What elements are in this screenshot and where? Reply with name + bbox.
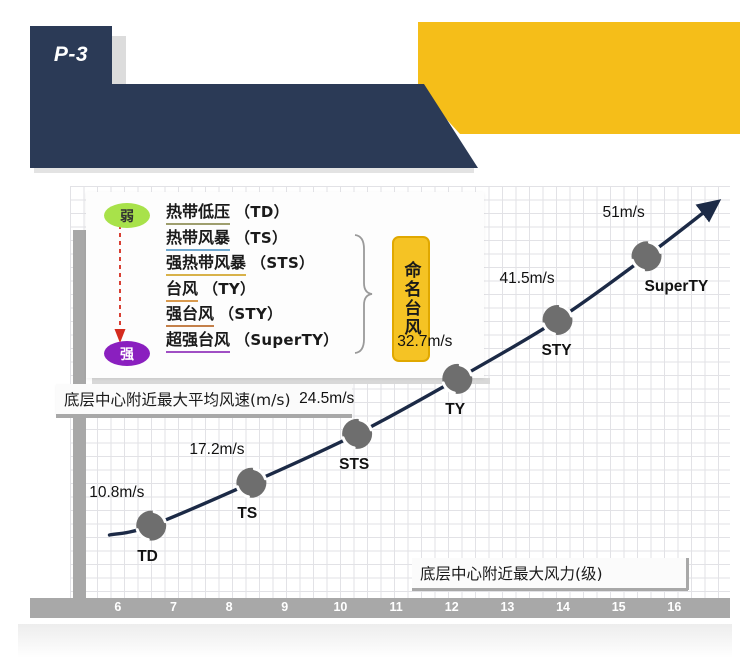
cyclone-marker-icon (136, 511, 166, 541)
chart-point-category-label: SuperTY (645, 278, 709, 296)
category-list: 热带低压（TD）热带风暴（TS）强热带风暴（STS）台风（TY）强台风（STY）… (166, 199, 339, 352)
chart-point-category-label: STS (339, 456, 369, 474)
chart-point-value-label: 41.5m/s (499, 270, 554, 288)
legend-item-label-cn: 台风 (166, 275, 198, 302)
legend-item-label-cn: 热带低压 (166, 198, 230, 225)
legend-item: 强热带风暴（STS） (166, 250, 339, 276)
infographic-root: 热带气旋 tropical cyclone P-3 根据《热带气旋等级》国家标准… (0, 0, 750, 660)
chart-point-value-label: 24.5m/s (299, 390, 354, 408)
legend-item-label-cn: 强台风 (166, 300, 214, 327)
chart-point-category-label: STY (541, 342, 571, 360)
legend-item-label-cn: 强热带风暴 (166, 249, 246, 276)
x-axis-label-tick (686, 558, 689, 590)
chart-point-value-label: 10.8m/s (89, 484, 144, 502)
chart-point-category-label: TD (137, 548, 158, 566)
legend-item-label-en: （TS） (235, 227, 287, 248)
cyclone-marker-icon (442, 364, 472, 394)
chart-point-value-label: 17.2m/s (189, 441, 244, 459)
x-axis-label-underline (412, 588, 688, 591)
weak-badge: 弱 (104, 203, 150, 228)
chart-point-category-label: TY (445, 401, 465, 419)
legend-item: 超强台风（SuperTY） (166, 327, 339, 353)
cyclone-marker-icon (632, 241, 662, 271)
legend-item-label-en: （TD） (235, 201, 289, 222)
cyclone-marker-icon (542, 305, 572, 335)
intensity-arrow-icon (112, 225, 128, 347)
legend-item-label-cn: 热带风暴 (166, 224, 230, 251)
legend-item: 强台风（STY） (166, 301, 339, 327)
y-axis-label-underline (56, 414, 352, 418)
legend-item-label-en: （STY） (219, 303, 282, 324)
chart-point-category-label: TS (237, 505, 257, 523)
grouping-brace-icon (352, 233, 374, 355)
legend-item-label-en: （STS） (251, 252, 314, 273)
legend-item: 台风（TY） (166, 276, 339, 302)
chart-point-value-label: 51m/s (603, 204, 645, 222)
cyclone-marker-icon (342, 419, 372, 449)
legend-item: 热带低压（TD） (166, 199, 339, 225)
strong-badge: 强 (104, 341, 150, 366)
legend-item-label-en: （TY） (203, 278, 255, 299)
cyclone-marker-icon (236, 468, 266, 498)
named-typhoon-label: 命名台风 (399, 261, 424, 337)
legend-item-label-cn: 超强台风 (166, 326, 230, 353)
chart-point-value-label: 32.7m/s (397, 333, 452, 351)
legend-item: 热带风暴（TS） (166, 225, 339, 251)
legend-item-label-en: （SuperTY） (235, 329, 339, 350)
page-badge-label: P-3 (30, 26, 112, 84)
